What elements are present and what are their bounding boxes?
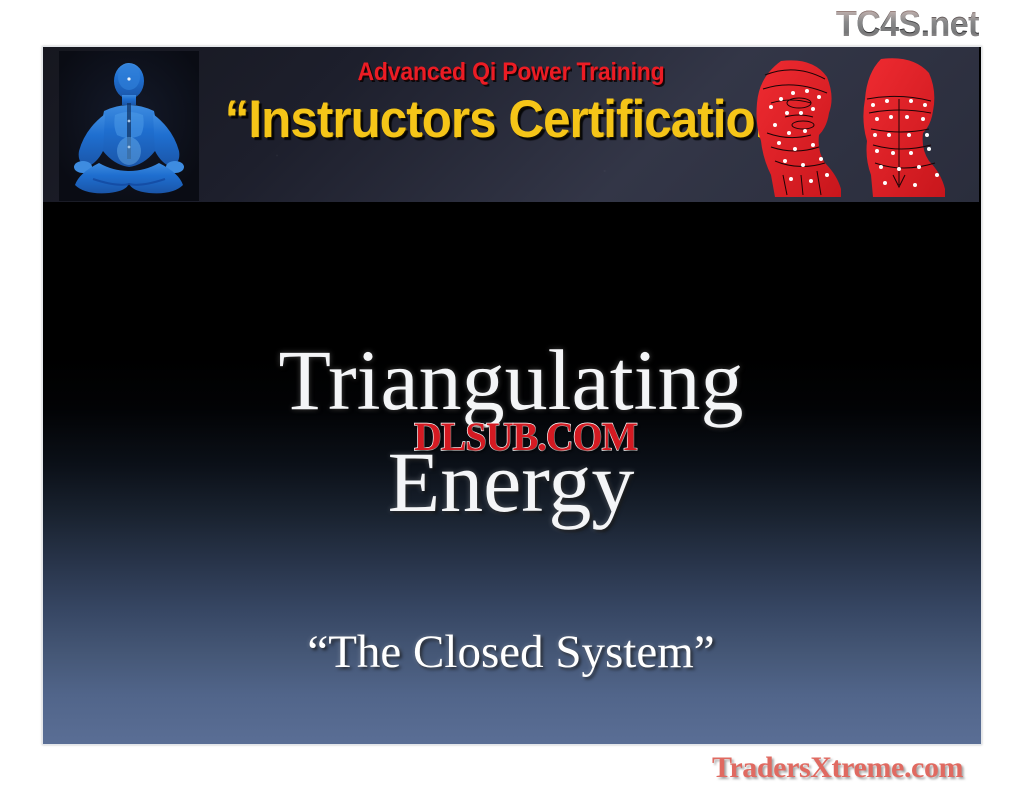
- page-canvas: Advanced Qi Power Training “Instructors …: [0, 0, 1024, 791]
- anatomical-heads-icon: [741, 55, 971, 200]
- banner-main-text: “Instructors Certification”: [225, 89, 802, 150]
- watermark-tc4s: TC4S.net: [836, 3, 979, 45]
- banner-top-text: Advanced Qi Power Training: [290, 58, 732, 87]
- slide-subtitle: “The Closed System”: [43, 625, 979, 679]
- slide-banner: Advanced Qi Power Training “Instructors …: [43, 47, 979, 202]
- slide: Advanced Qi Power Training “Instructors …: [42, 46, 982, 745]
- watermark-dlsub: DLSUB.COM: [414, 413, 637, 460]
- watermark-tradersxtreme: TradersXtreme.com: [712, 751, 963, 785]
- meditating-figure-icon: [59, 51, 199, 201]
